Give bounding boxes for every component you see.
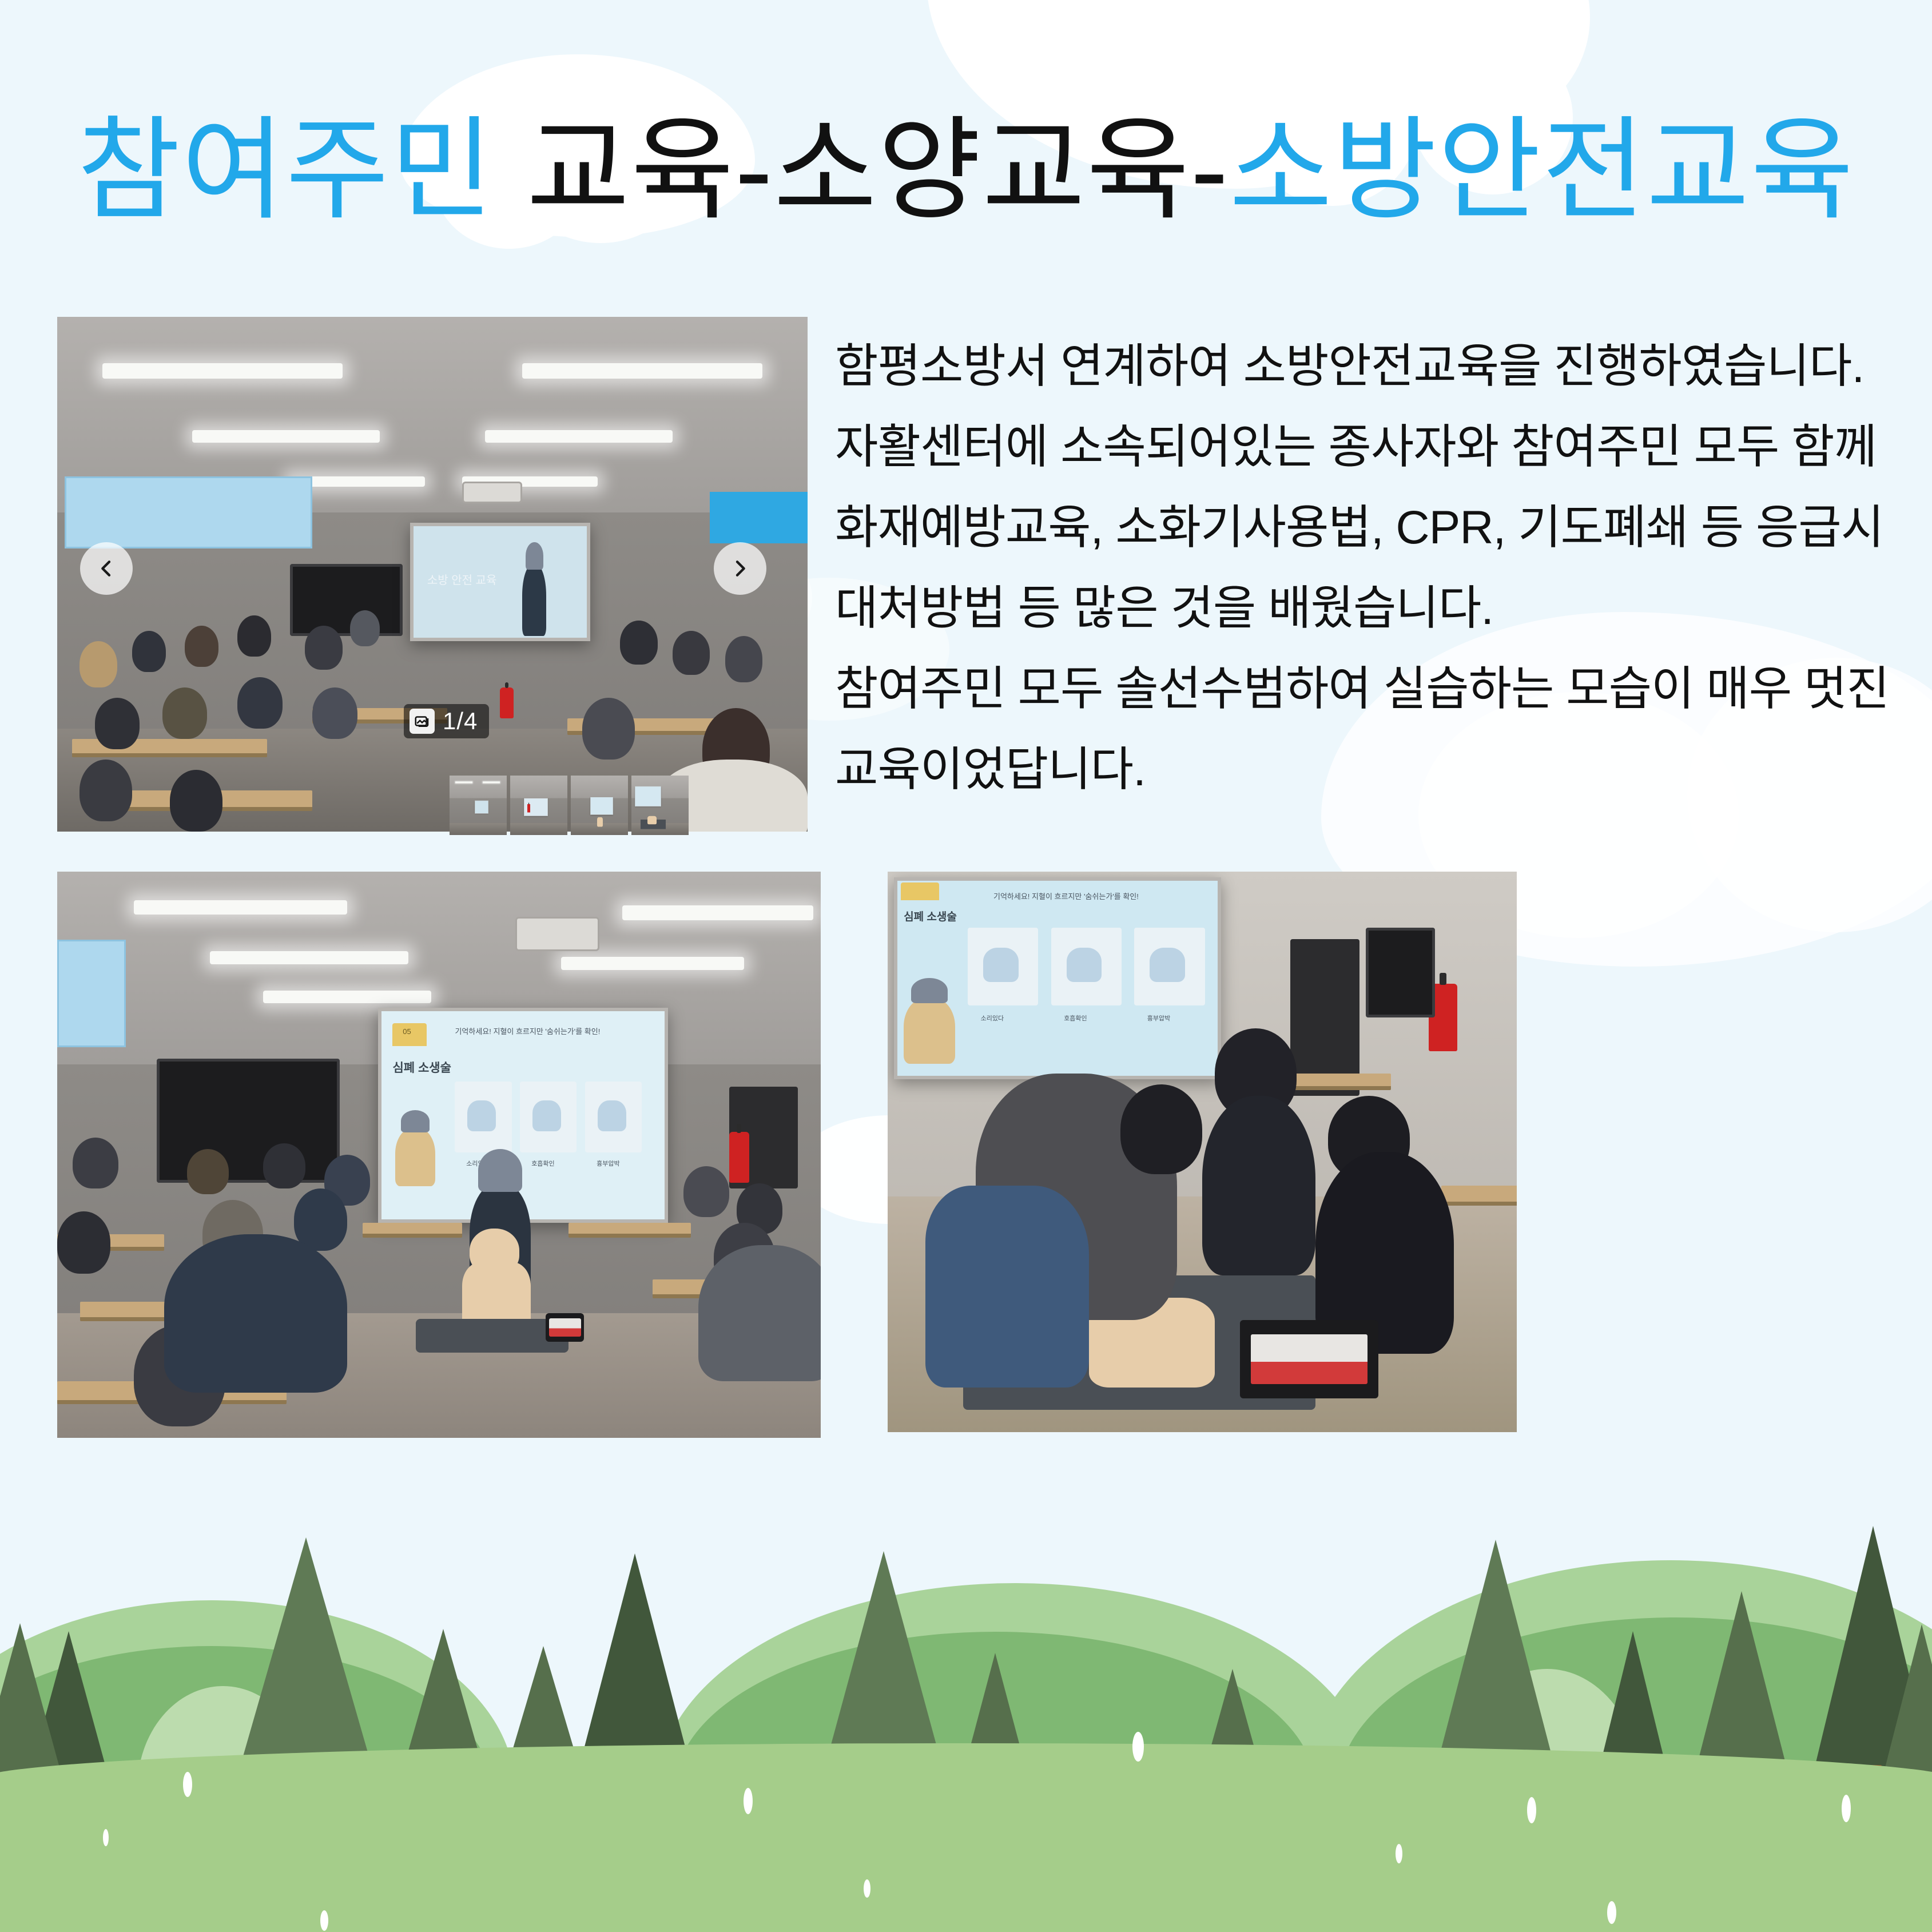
wall-banner-right [710,492,808,543]
carousel-next-button[interactable] [714,542,766,595]
page-title-segment-1: 참여주민 [77,108,494,233]
trainee-jeans [925,1186,1089,1388]
carousel-thumbnail-4[interactable] [631,776,689,835]
ceiling-lamp [134,900,348,915]
body-line-4: 대처방법 등 많은 것을 배웠습니다. [835,568,1893,649]
thumbnail-scene [450,776,507,835]
slide-number-text: 05 [403,1027,411,1036]
desk [569,1223,691,1238]
chevron-right-icon [729,557,752,580]
ceiling-lamp [102,363,343,379]
landscape-illustration [0,1429,1932,1932]
projection-screen: 심폐 소생술 기억하세요! 지혈이 흐르지만 '숨쉬는가'를 확인! 소리있다 … [894,877,1221,1079]
audience-head [170,770,222,832]
carousel-counter: 1/4 [404,704,489,738]
slide-note-text: 기억하세요! 지혈이 흐르지만 '숨쉬는가'를 확인! [993,891,1139,901]
audience-body [164,1234,347,1393]
body-line-3: 화재예방교육, 소화기사용법, CPR, 기도폐쇄 등 응급시 [835,487,1893,568]
photo-fire-safety-lecture[interactable]: 소방 안전 교육 [57,317,808,832]
grass-petal [1842,1795,1851,1822]
slide-figure-1 [968,928,1038,1005]
slide-caption-2: 호흡확인 [1064,1013,1087,1023]
carousel-thumbnail-1[interactable] [450,776,507,835]
page-title-segment-3: 소방안전교육 [1229,108,1855,233]
ceiling-projector [515,917,599,951]
slide-figure-2 [1051,928,1122,1005]
carousel-thumbnail-strip[interactable] [450,776,689,835]
slide-caption-3: 흉부압박 [1147,1013,1170,1023]
photo-1-scene: 소방 안전 교육 [57,317,808,832]
fire-extinguisher [729,1132,749,1183]
grass-foreground [0,1743,1932,1932]
audience-head [305,626,343,670]
aed-case [1240,1320,1378,1398]
projection-screen: 05 심폐 소생술 기억하세요! 지혈이 흐르지만 '숨쉬는가'를 확인! 소리… [378,1008,668,1223]
audience-head [312,687,357,739]
ceiling-lamp [522,363,762,379]
photo-stack-glyph [414,713,431,730]
slide-title-text: 소방 안전 교육 [427,571,497,587]
desk [363,1223,462,1238]
audience-head [162,687,208,739]
slide-figure-2 [520,1082,577,1152]
fire-extinguisher [500,687,514,718]
grass-petal [320,1910,328,1931]
slide-title-text: 심폐 소생술 [904,908,957,924]
grass-petal [183,1772,192,1797]
carousel-prev-button[interactable] [80,542,133,595]
audience-head [725,636,763,682]
slide-caption-3: 흉부압박 [597,1159,619,1168]
audience-head [187,1149,229,1194]
projection-screen: 소방 안전 교육 [410,523,590,641]
officer-illustration [904,997,955,1064]
grass-petal [1607,1901,1616,1924]
trainee-head [1120,1084,1202,1174]
audience-head [673,631,710,675]
grass-petal [864,1879,870,1898]
audience-head [79,641,117,687]
audience-head [132,631,166,672]
audience-head [237,615,271,657]
chevron-left-icon [95,557,118,580]
slide-figure-3 [585,1082,642,1152]
grass-petal [1132,1732,1144,1762]
photo-3-scene: 심폐 소생술 기억하세요! 지혈이 흐르지만 '숨쉬는가'를 확인! 소리있다 … [888,872,1517,1432]
wall-monitor [290,564,403,636]
body-line-5: 참여주민 모두 솔선수범하여 실습하는 모습이 매우 멋진 [835,649,1893,729]
aed-case [546,1313,584,1342]
ceiling-lamp [210,951,408,965]
page-title-segment-2: 교육-소양교육- [494,108,1229,233]
photo-cpr-demonstration[interactable]: 05 심폐 소생술 기억하세요! 지혈이 흐르지만 '숨쉬는가'를 확인! 소리… [57,872,821,1438]
wall-monitor [1366,928,1435,1017]
slide-caption-1: 소리있다 [981,1013,1004,1023]
audience-body [698,1245,821,1381]
carousel-thumbnail-3[interactable] [571,776,628,835]
ceiling-lamp [561,957,744,971]
slide-number-tab [901,882,939,900]
thumbnail-scene [510,776,567,835]
audience-head [582,698,635,760]
ceiling-lamp [485,430,673,443]
carousel-counter-text: 1/4 [443,709,478,733]
officer-illustration [395,1128,435,1186]
ceiling-lamp [263,991,431,1003]
body-text-block: 함평소방서 연계하여 소방안전교육을 진행하였습니다. 자활센터에 소속되어있는… [835,326,1893,810]
audience-head [620,621,658,665]
carousel-thumbnail-2[interactable] [510,776,567,835]
body-line-1: 함평소방서 연계하여 소방안전교육을 진행하였습니다. [835,326,1893,407]
body-line-6: 교육이었답니다. [835,729,1893,810]
ceiling-projector [462,482,522,503]
loudspeaker [1290,939,1359,1096]
audience-head [294,1188,347,1251]
slide-figure-3 [1134,928,1204,1005]
photo-cpr-hands-on[interactable]: 심폐 소생술 기억하세요! 지혈이 흐르지만 '숨쉬는가'를 확인! 소리있다 … [888,872,1517,1432]
grass-petal [1396,1844,1402,1863]
audience-head [350,610,380,646]
wall-monitor [157,1059,340,1183]
audience-head [79,760,132,821]
slide-number-tab: 05 [392,1023,426,1046]
page-title: 참여주민 교육-소양교육-소방안전교육 [0,109,1932,232]
audience-head [237,677,283,729]
ceiling-lamp [622,905,813,920]
photo-2-scene: 05 심폐 소생술 기억하세요! 지혈이 흐르지만 '숨쉬는가'를 확인! 소리… [57,872,821,1438]
slide-title-text: 심폐 소생술 [392,1059,451,1076]
slide-figure-1 [455,1082,511,1152]
thumbnail-scene [571,776,628,835]
observer-body [1202,1096,1315,1275]
audience-head [263,1143,305,1188]
audience-head [57,1211,110,1274]
grass-petal [103,1829,109,1846]
slide-caption-2: 호흡확인 [531,1159,554,1168]
audience-head [95,698,140,749]
body-line-2: 자활센터에 소속되어있는 종사자와 참여주민 모두 함께 [835,407,1893,487]
audience-head [185,626,218,667]
thumbnail-scene [631,776,689,835]
audience-head [683,1166,729,1217]
instructor-figure [522,564,546,636]
grass-petal [1527,1797,1536,1823]
wall-poster [57,940,126,1047]
photo-stack-icon [410,709,435,734]
wall-banner [65,476,312,548]
slide-note-text: 기억하세요! 지혈이 흐르지만 '숨쉬는가'를 확인! [455,1025,600,1036]
audience-head [73,1138,118,1188]
ceiling-lamp [192,430,380,443]
grass-petal [744,1788,753,1814]
side-desk [1441,1186,1517,1206]
